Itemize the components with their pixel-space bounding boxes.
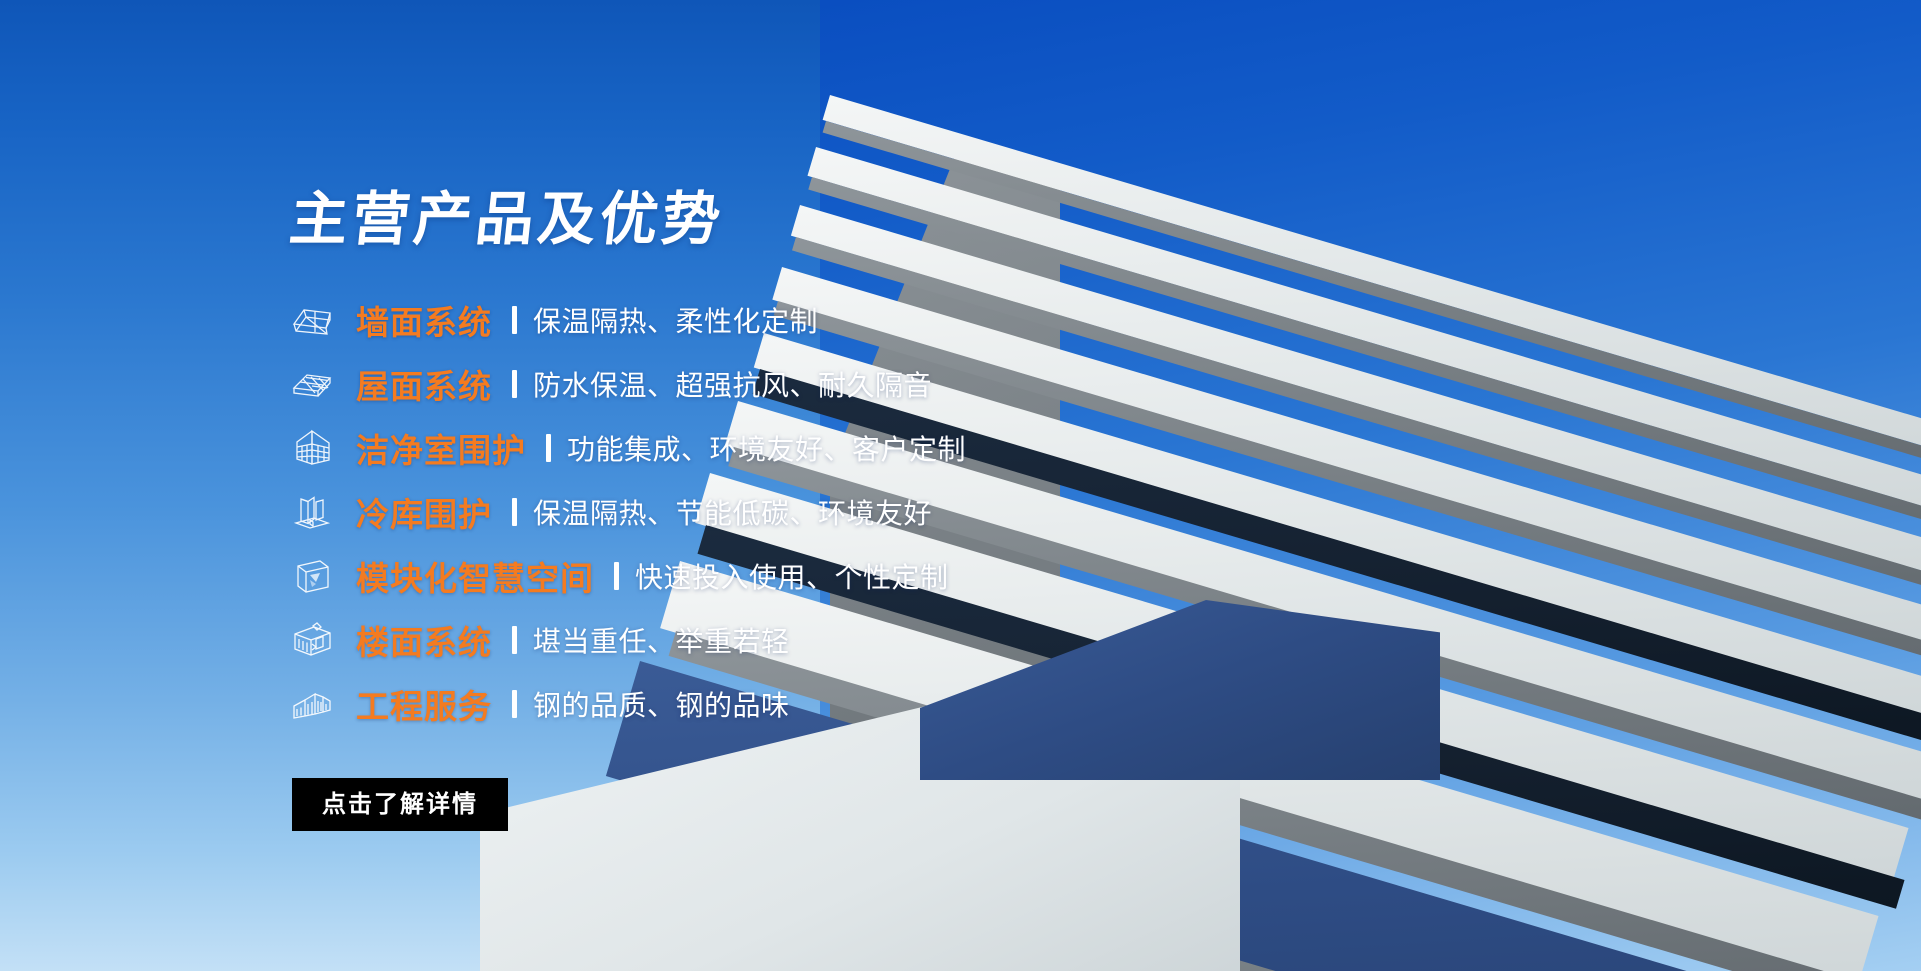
- list-item[interactable]: 冷库围护 保温隔热、节能低碳、环境友好: [290, 480, 1190, 544]
- page-title: 主营产品及优势: [287, 190, 1193, 248]
- wireframe-building-box-icon: [290, 298, 334, 342]
- cleanroom-multistory-building-icon: [290, 426, 334, 470]
- learn-more-button[interactable]: 点击了解详情: [292, 778, 508, 831]
- product-desc: 钢的品质、钢的品味: [533, 684, 790, 724]
- product-desc: 堪当重任、举重若轻: [533, 620, 790, 660]
- separator-bar: [512, 690, 517, 718]
- product-term: 屋面系统: [356, 360, 492, 408]
- hero-banner: 主营产品及优势 墙面系统 保温隔热、柔性化定制: [0, 0, 1921, 971]
- cold-storage-panels-icon: [290, 490, 334, 534]
- product-desc: 功能集成、环境友好、客户定制: [567, 428, 966, 468]
- list-item[interactable]: 洁净室围护 功能集成、环境友好、客户定制: [290, 416, 1190, 480]
- separator-bar: [512, 498, 517, 526]
- separator-bar: [512, 626, 517, 654]
- banner-content: 主营产品及优势 墙面系统 保温隔热、柔性化定制: [290, 190, 1190, 831]
- product-term: 墙面系统: [356, 296, 492, 344]
- product-term: 洁净室围护: [356, 424, 526, 472]
- list-item[interactable]: 工程服务 钢的品质、钢的品味: [290, 672, 1190, 736]
- product-desc: 防水保温、超强抗风、耐久隔音: [533, 364, 932, 404]
- engineering-service-buildings-icon: [290, 682, 334, 726]
- product-term: 冷库围护: [356, 488, 492, 536]
- modular-cube-icon: [290, 554, 334, 598]
- product-desc: 保温隔热、节能低碳、环境友好: [533, 492, 932, 532]
- list-item[interactable]: 墙面系统 保温隔热、柔性化定制: [290, 288, 1190, 352]
- separator-bar: [546, 434, 551, 462]
- separator-bar: [512, 306, 517, 334]
- roof-panel-slab-icon: [290, 362, 334, 406]
- separator-bar: [512, 370, 517, 398]
- product-desc: 保温隔热、柔性化定制: [533, 300, 818, 340]
- product-term: 楼面系统: [356, 616, 492, 664]
- list-item[interactable]: 楼面系统 堪当重任、举重若轻: [290, 608, 1190, 672]
- product-term: 工程服务: [356, 680, 492, 728]
- floor-deck-container-icon: [290, 618, 334, 662]
- product-desc: 快速投入使用、个性定制: [635, 556, 949, 596]
- product-term: 模块化智慧空间: [356, 552, 594, 600]
- list-item[interactable]: 模块化智慧空间 快速投入使用、个性定制: [290, 544, 1190, 608]
- separator-bar: [614, 562, 619, 590]
- product-list: 墙面系统 保温隔热、柔性化定制 屋面系统 防水保温、超强抗风、: [290, 288, 1190, 736]
- list-item[interactable]: 屋面系统 防水保温、超强抗风、耐久隔音: [290, 352, 1190, 416]
- lower-white-cladding: [471, 807, 1921, 971]
